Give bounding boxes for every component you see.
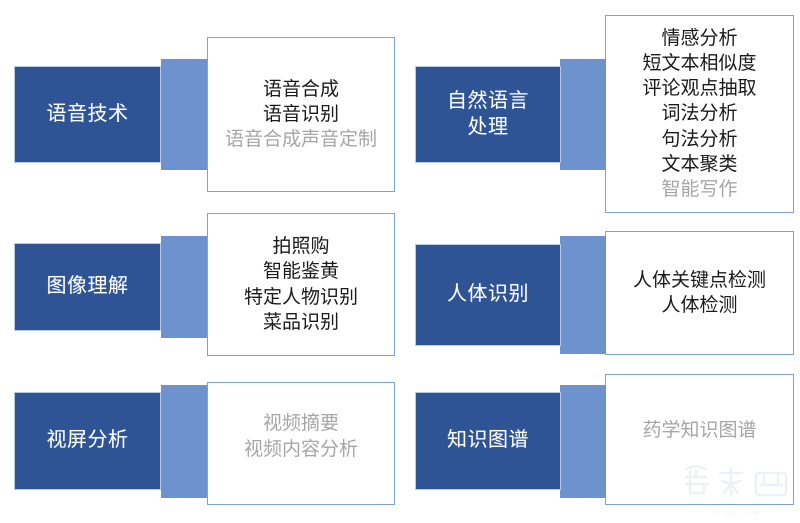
detail-item: 视频摘要 xyxy=(214,411,388,436)
detail-item: 菜品识别 xyxy=(214,310,388,335)
detail-item: 视频内容分析 xyxy=(214,437,388,462)
label-text: 视屏分析 xyxy=(47,428,129,454)
label-natural-language-processing[interactable]: 自然语言 处理 xyxy=(415,66,561,163)
connector-human-body-recognition xyxy=(560,236,606,354)
detail-item: 拍照购 xyxy=(214,234,388,259)
detail-item: 人体关键点检测 xyxy=(612,268,787,293)
label-text: 图像理解 xyxy=(47,274,129,300)
label-video-analysis[interactable]: 视屏分析 xyxy=(14,392,161,490)
detail-item: 评论观点抽取 xyxy=(612,76,787,101)
label-speech-technology[interactable]: 语音技术 xyxy=(14,66,161,163)
detail-panel-speech-technology: 语音合成 语音识别 语音合成声音定制 xyxy=(207,37,395,192)
detail-item: 人体检测 xyxy=(612,293,787,318)
detail-item: 文本聚类 xyxy=(612,152,787,177)
connector-knowledge-graph xyxy=(560,385,606,498)
detail-list: 药学知识图谱 xyxy=(606,418,793,443)
detail-panel-knowledge-graph: 药学知识图谱 xyxy=(605,374,794,505)
detail-list: 人体关键点检测 人体检测 xyxy=(606,268,793,318)
detail-panel-image-understanding: 拍照购 智能鉴黄 特定人物识别 菜品识别 xyxy=(207,213,395,356)
detail-item: 智能写作 xyxy=(612,177,787,202)
detail-list: 视频摘要 视频内容分析 xyxy=(208,411,394,461)
detail-panel-video-analysis: 视频摘要 视频内容分析 xyxy=(207,382,395,505)
label-knowledge-graph[interactable]: 知识图谱 xyxy=(415,392,561,490)
detail-list: 语音合成 语音识别 语音合成声音定制 xyxy=(208,77,394,152)
connector-video-analysis xyxy=(161,385,207,498)
label-text: 自然语言 处理 xyxy=(447,89,529,140)
detail-panel-human-body-recognition: 人体关键点检测 人体检测 xyxy=(605,231,794,355)
detail-item: 语音合成 xyxy=(214,77,388,102)
watermark-site: zhidx.com xyxy=(680,511,792,517)
label-text: 知识图谱 xyxy=(447,428,529,454)
detail-item: 语音识别 xyxy=(214,102,388,127)
connector-speech-technology xyxy=(161,59,207,170)
connector-image-understanding xyxy=(161,236,207,338)
label-image-understanding[interactable]: 图像理解 xyxy=(14,243,161,331)
detail-item: 句法分析 xyxy=(612,127,787,152)
detail-item: 短文本相似度 xyxy=(612,51,787,76)
detail-panel-natural-language-processing: 情感分析 短文本相似度 评论观点抽取 词法分析 句法分析 文本聚类 智能写作 xyxy=(605,15,794,213)
connector-natural-language-processing xyxy=(560,59,606,170)
detail-list: 拍照购 智能鉴黄 特定人物识别 菜品识别 xyxy=(208,234,394,334)
diagram-canvas: 语音合成 语音识别 语音合成声音定制 语音技术 情感分析 短文本相似度 评论观点… xyxy=(0,0,800,523)
detail-item: 词法分析 xyxy=(612,101,787,126)
label-text: 人体识别 xyxy=(447,282,529,308)
detail-item: 情感分析 xyxy=(612,26,787,51)
detail-item: 智能鉴黄 xyxy=(214,259,388,284)
label-human-body-recognition[interactable]: 人体识别 xyxy=(415,244,561,346)
label-text: 语音技术 xyxy=(47,102,129,128)
detail-item: 特定人物识别 xyxy=(214,285,388,310)
detail-item: 药学知识图谱 xyxy=(612,418,787,443)
detail-item: 语音合成声音定制 xyxy=(214,127,388,152)
detail-list: 情感分析 短文本相似度 评论观点抽取 词法分析 句法分析 文本聚类 智能写作 xyxy=(606,26,793,202)
